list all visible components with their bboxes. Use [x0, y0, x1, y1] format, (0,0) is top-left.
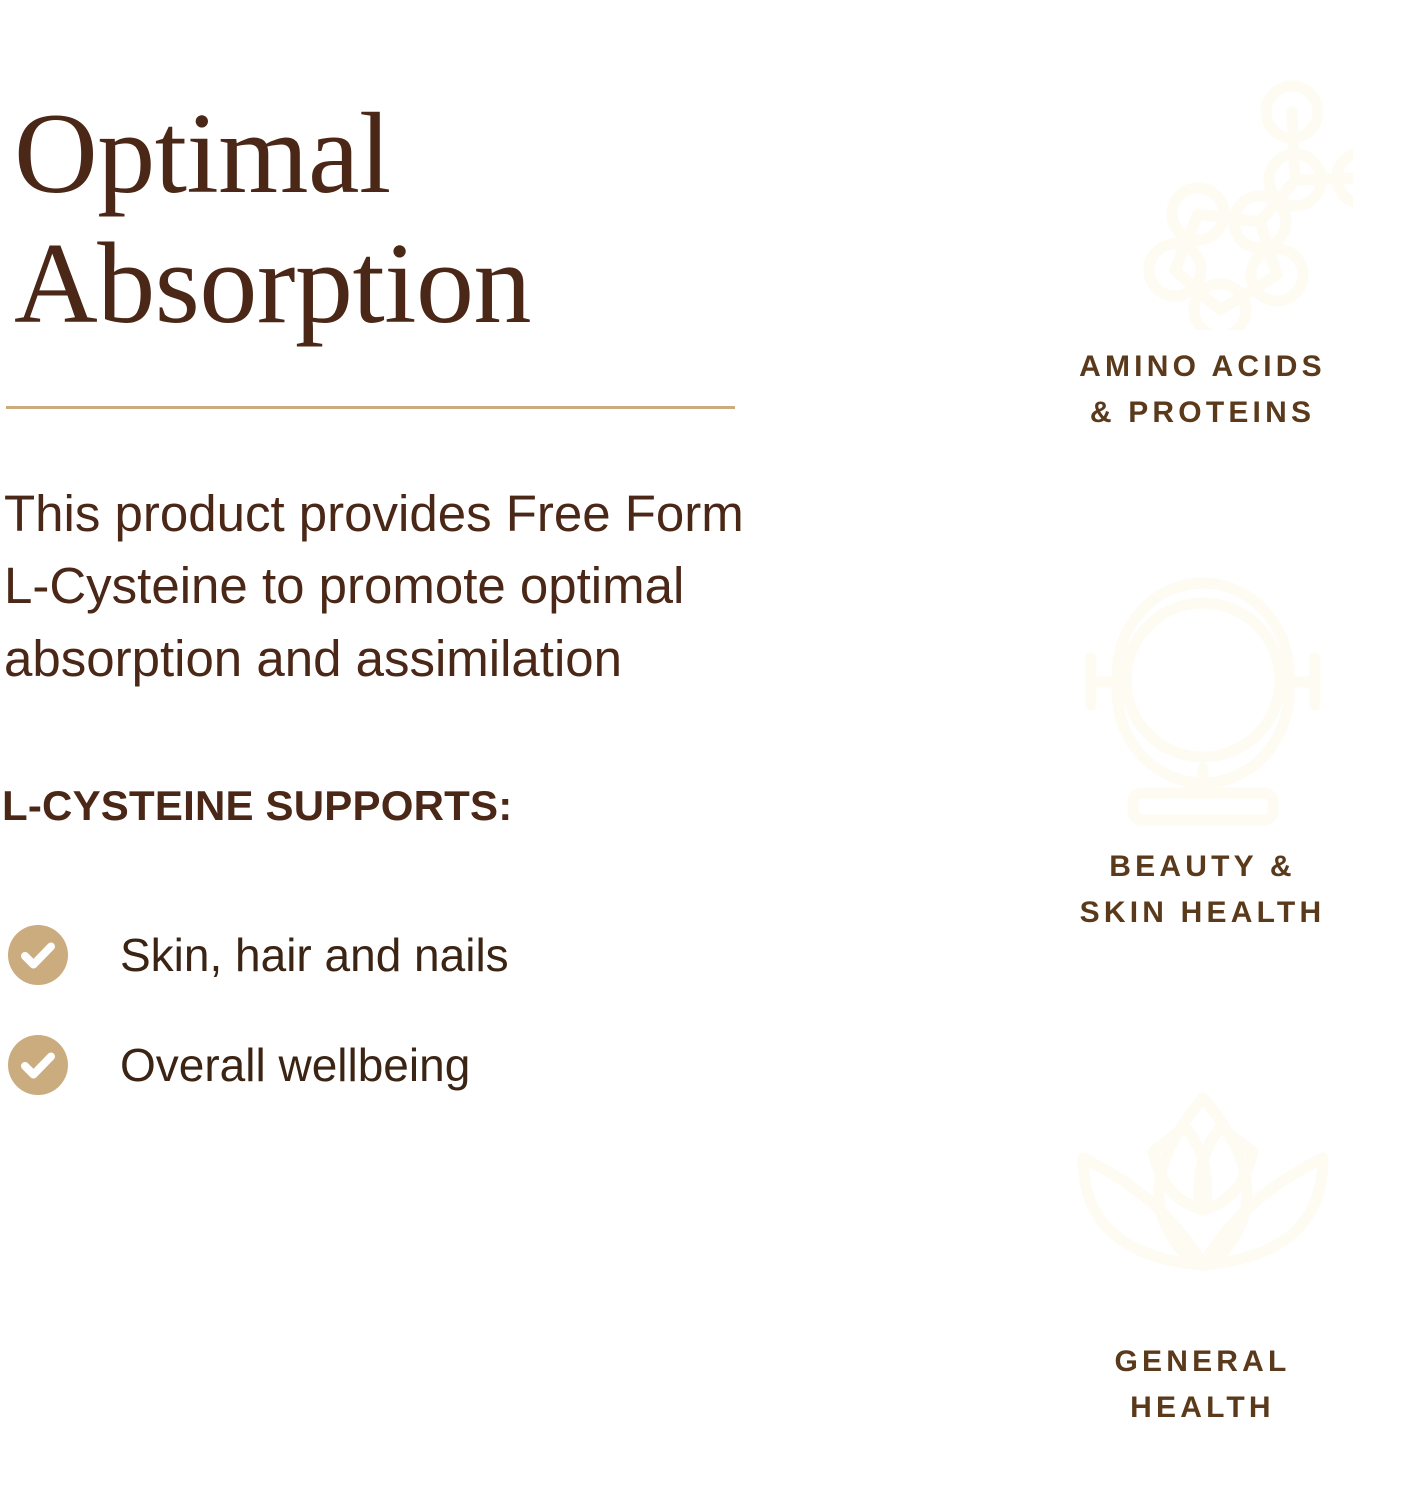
panel-section-amino-acids: AMINO ACIDS & PROTEINS: [988, 60, 1417, 435]
panel-label-line-2: HEALTH: [988, 1385, 1417, 1431]
vanity-mirror-icon: [988, 560, 1417, 830]
panel-label-line-1: BEAUTY &: [988, 844, 1417, 890]
intro-paragraph-line-2: L-Cysteine to promote optimal: [4, 550, 914, 622]
benefit-list-item: Skin, hair and nails: [8, 925, 509, 985]
panel-label-general-health: GENERAL HEALTH: [988, 1339, 1417, 1430]
panel-label-amino-acids: AMINO ACIDS & PROTEINS: [988, 344, 1417, 435]
page-title-line-2: Absorption: [14, 220, 914, 350]
panel-label-line-2: SKIN HEALTH: [988, 890, 1417, 936]
benefit-label: Skin, hair and nails: [120, 932, 509, 978]
intro-paragraph-line-3: absorption and assimilation: [4, 623, 914, 695]
left-content-pane: Optimal Absorption This product provides…: [0, 0, 988, 1500]
supports-heading: L-CYSTEINE SUPPORTS:: [2, 782, 512, 830]
benefits-gold-panel: AMINO ACIDS & PROTEINS: [988, 0, 1417, 1500]
intro-paragraph: This product provides Free Form L-Cystei…: [4, 478, 914, 695]
benefit-list-item: Overall wellbeing: [8, 1035, 470, 1095]
molecule-icon: [988, 60, 1417, 330]
benefit-label: Overall wellbeing: [120, 1042, 470, 1088]
panel-label-beauty: BEAUTY & SKIN HEALTH: [988, 844, 1417, 935]
panel-label-line-1: AMINO ACIDS: [988, 344, 1417, 390]
check-icon: [8, 925, 68, 985]
panel-section-general-health: GENERAL HEALTH: [988, 1055, 1417, 1430]
title-divider-rule: [6, 406, 735, 409]
panel-label-line-1: GENERAL: [988, 1339, 1417, 1385]
intro-paragraph-line-1: This product provides Free Form: [4, 478, 914, 550]
check-icon: [8, 1035, 68, 1095]
panel-section-beauty: BEAUTY & SKIN HEALTH: [988, 560, 1417, 935]
lotus-flower-icon: [988, 1055, 1417, 1325]
panel-label-line-2: & PROTEINS: [988, 390, 1417, 436]
page-title-line-1: Optimal: [14, 90, 914, 220]
page-title: Optimal Absorption: [14, 90, 914, 350]
